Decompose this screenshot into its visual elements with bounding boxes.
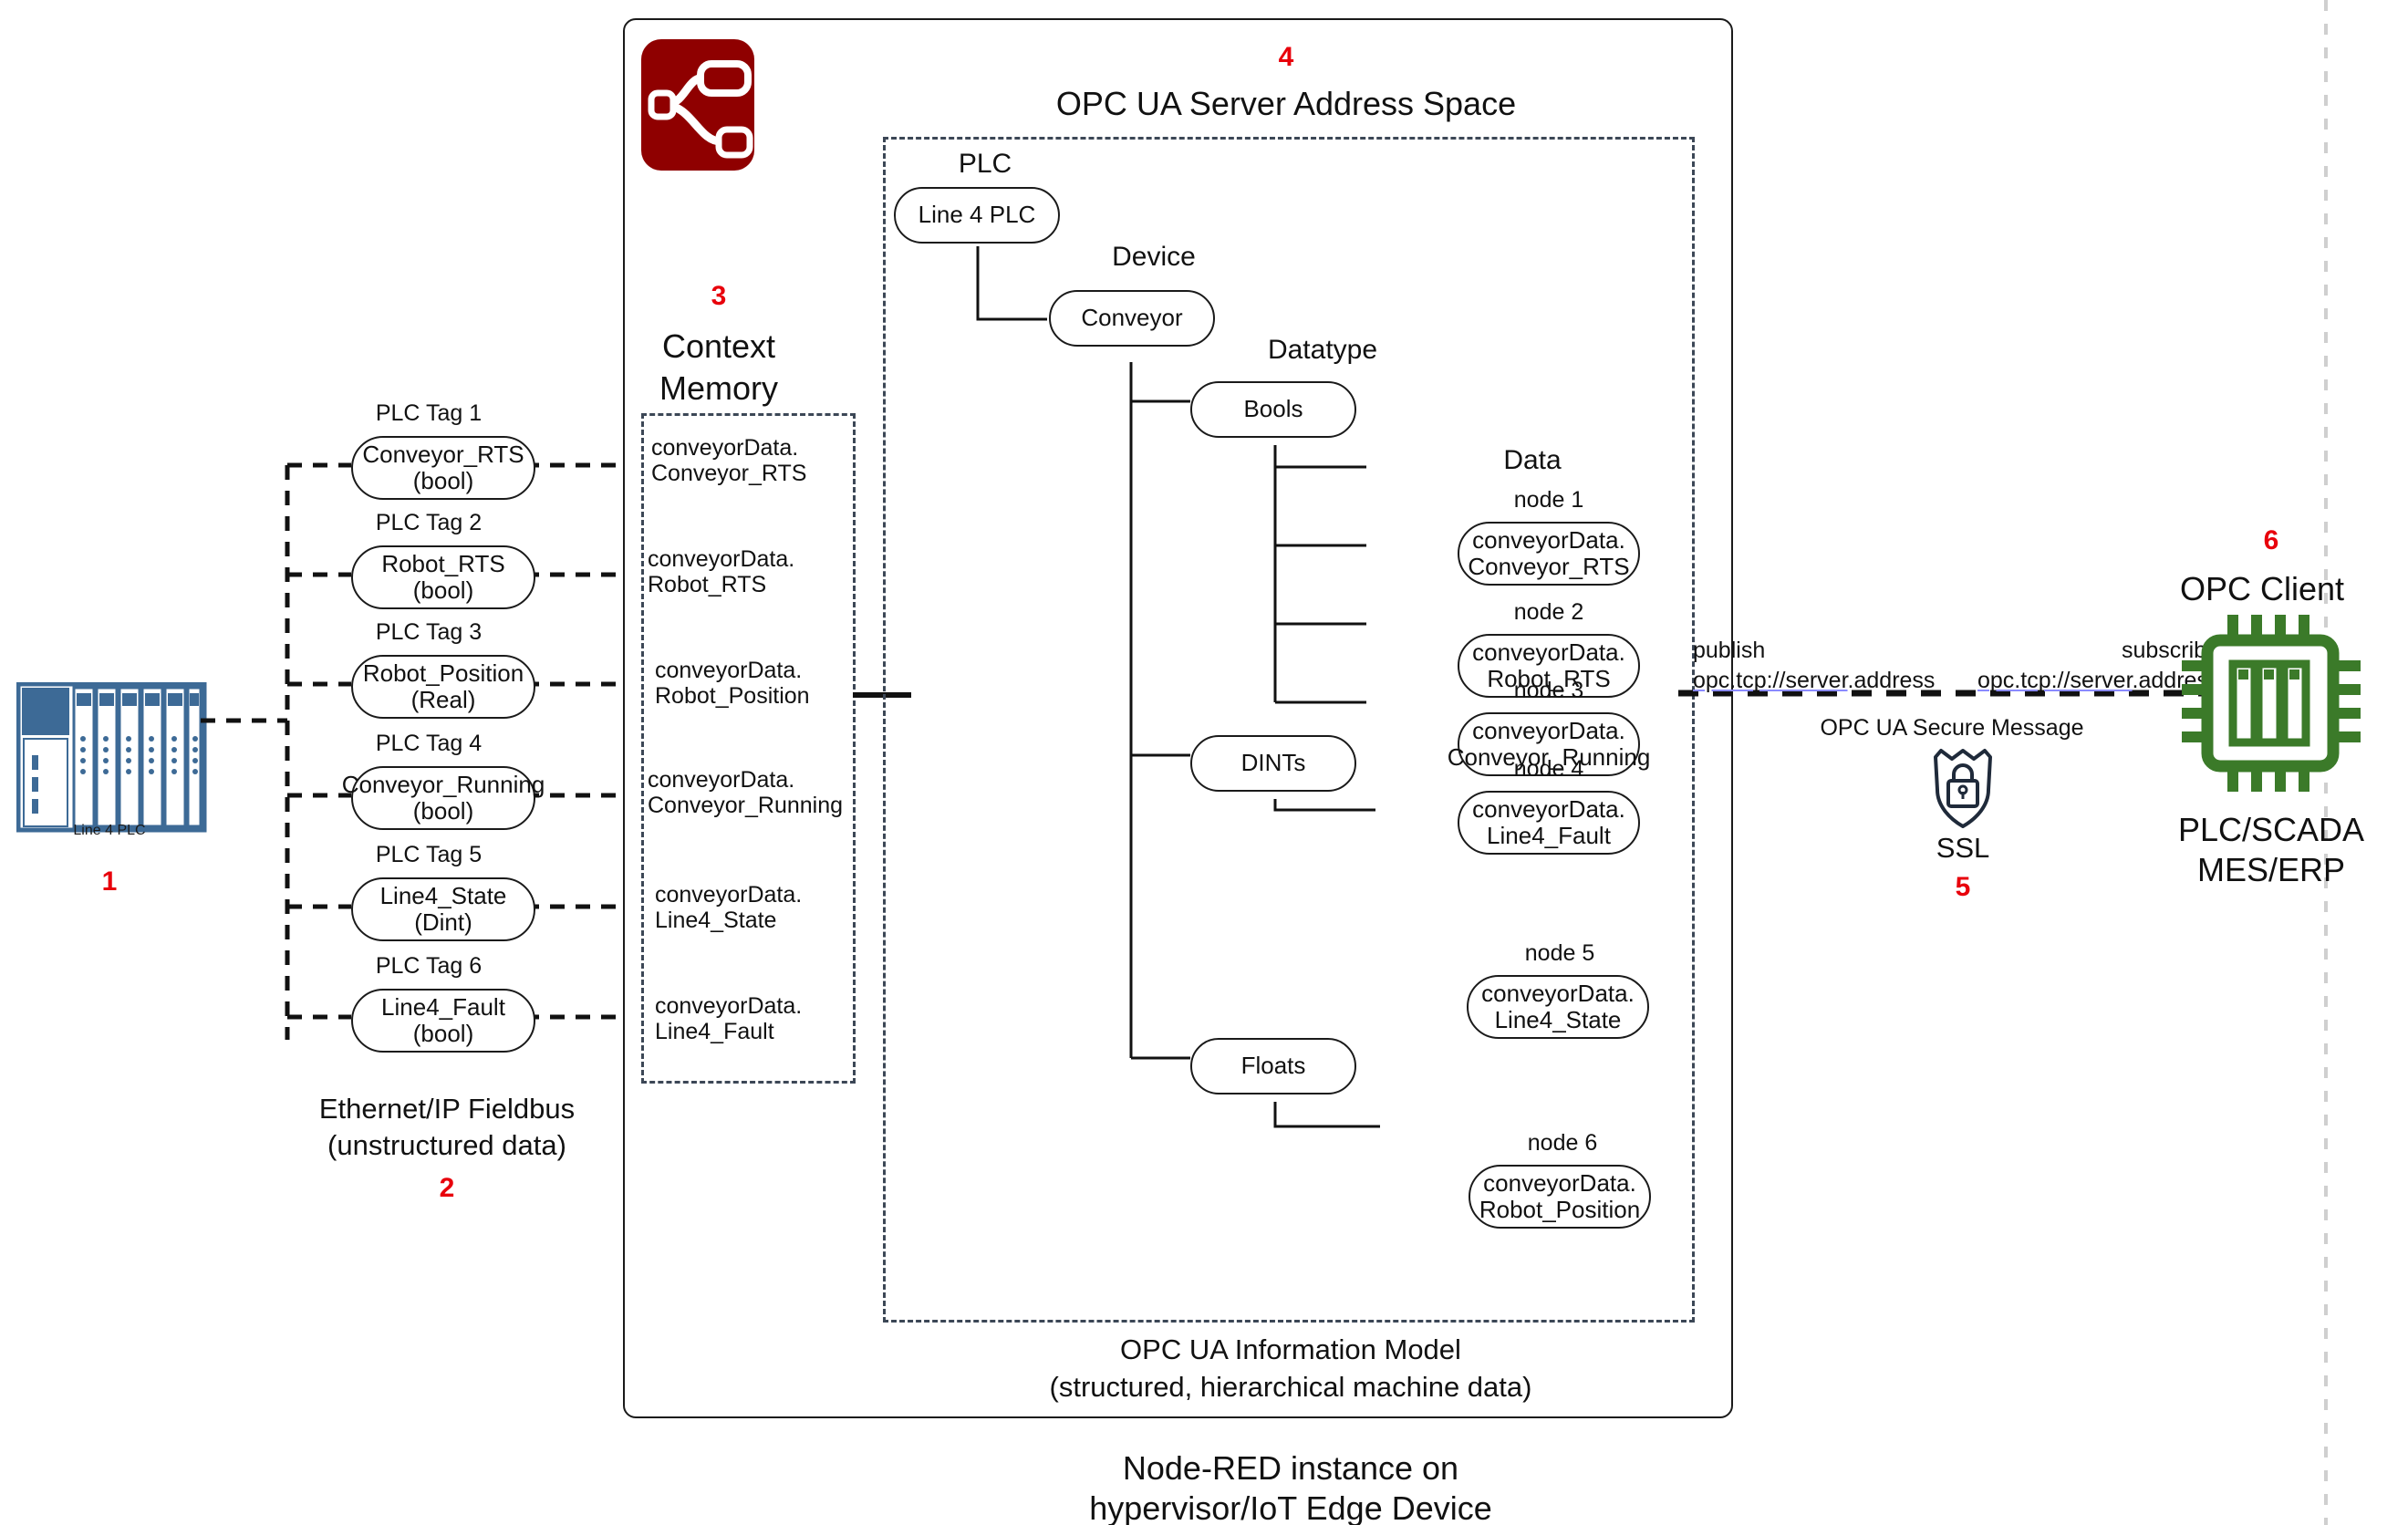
data-node-4-line2: Line4_Fault [1472,823,1625,849]
fieldbus-caption-line1: Ethernet/IP Fieldbus [283,1093,611,1126]
address-space-title: OPC UA Server Address Space [876,84,1697,123]
context-entry-4: conveyorData. Conveyor_Running [648,768,871,818]
publish-url-tail: .address [1848,668,1936,693]
data-node-5-line1: conveyorData. [1481,980,1635,1007]
context-entry-6-line2: Line4_Fault [655,1020,869,1045]
column-header-datatype: Datatype [1222,335,1423,365]
data-node-1-line2: Conveyor_RTS [1468,554,1629,580]
information-model-caption-line2: (structured, hierarchical machine data) [912,1371,1669,1405]
data-node-1-line1: conveyorData. [1468,527,1629,554]
plc-tag-5-pill[interactable]: Line4_State (Dint) [351,877,535,941]
shield-lock-icon [1926,746,1999,830]
context-entry-4-line2: Conveyor_Running [648,794,871,819]
context-memory-title-line2: Memory [623,368,815,408]
data-node-5-line2: Line4_State [1481,1007,1635,1033]
plc-tag-3-name: Robot_Position [363,660,524,687]
context-entry-3-line2: Robot_Position [655,684,869,710]
data-node-4-header: node 4 [1453,757,1645,783]
callout-number-6: 6 [2162,527,2381,555]
callout-number-5: 5 [1881,874,2045,901]
tree-node-device-label: Conveyor [1081,305,1182,331]
plc-device-label: Line 4 PLC [0,823,219,839]
context-memory-box [641,413,856,1084]
secure-message-label: OPC UA Secure Message [1770,716,2134,742]
plc-tag-6-name: Line4_Fault [381,994,505,1021]
opc-client-caption-line1: PLC/SCADA [2134,810,2408,849]
context-entry-6-line1: conveyorData. [655,994,869,1020]
tree-node-datatype-bools[interactable]: Bools [1190,381,1356,438]
data-node-3-line1: conveyorData. [1448,718,1651,744]
context-entry-2-line1: conveyorData. [648,547,862,573]
context-entry-6: conveyorData. Line4_Fault [655,994,869,1044]
plc-tag-2-type: (bool) [381,577,504,604]
node-red-caption-line1: Node-RED instance on [912,1448,1669,1488]
data-node-1-header: node 1 [1453,488,1645,514]
context-entry-1-line1: conveyorData. [651,436,861,462]
plc-tag-5-type: (Dint) [380,909,507,936]
fieldbus-caption-line2: (unstructured data) [283,1129,611,1163]
tree-node-datatype-floats[interactable]: Floats [1190,1038,1356,1094]
plc-tag-1-header: PLC Tag 1 [324,401,534,427]
plc-tag-4-name: Conveyor_Running [342,772,545,798]
plc-tag-6-header: PLC Tag 6 [324,954,534,980]
plc-tag-5-name: Line4_State [380,883,507,909]
plc-tag-3-header: PLC Tag 3 [324,620,534,646]
plc-tag-2-pill[interactable]: Robot_RTS (bool) [351,545,535,609]
data-node-4[interactable]: conveyorData. Line4_Fault [1458,791,1640,855]
plc-tag-4-type: (bool) [342,798,545,825]
context-entry-2-line2: Robot_RTS [648,573,862,598]
node-red-caption-line2: hypervisor/IoT Edge Device [912,1489,1669,1525]
plc-tag-6-pill[interactable]: Line4_Fault (bool) [351,989,535,1053]
data-node-3-header: node 3 [1453,679,1645,704]
data-node-6-line1: conveyorData. [1479,1170,1640,1197]
plc-tag-1-type: (bool) [362,468,524,494]
context-entry-3: conveyorData. Robot_Position [655,659,869,709]
publish-url-link: opc.tcp://server [1693,668,1848,693]
plc-tag-4-pill[interactable]: Conveyor_Running (bool) [351,766,535,830]
context-entry-5-line2: Line4_State [655,908,869,934]
tree-node-plc-label: Line 4 PLC [919,202,1036,228]
callout-number-2: 2 [283,1175,611,1202]
data-node-6-header: node 6 [1467,1131,1658,1157]
data-node-1[interactable]: conveyorData. Conveyor_RTS [1458,522,1640,586]
callout-number-3: 3 [623,283,815,310]
context-entry-1-line2: Conveyor_RTS [651,462,861,487]
tree-node-plc[interactable]: Line 4 PLC [894,187,1060,244]
information-model-caption-line1: OPC UA Information Model [912,1333,1669,1367]
plc-tag-1-pill[interactable]: Conveyor_RTS (bool) [351,436,535,500]
tree-node-bools-label: Bools [1243,396,1303,422]
tree-node-device-conveyor[interactable]: Conveyor [1049,290,1215,347]
data-node-2-header: node 2 [1453,600,1645,626]
plc-tag-3-type: (Real) [363,687,524,713]
cpu-chip-icon [2180,613,2362,795]
context-entry-3-line1: conveyorData. [655,659,869,684]
plc-tag-1-name: Conveyor_RTS [362,441,524,468]
callout-number-4: 4 [876,44,1697,71]
tree-node-datatype-dints[interactable]: DINTs [1190,735,1356,792]
column-header-device: Device [1072,242,1236,272]
publish-label: publish [1693,638,1765,664]
data-node-5-header: node 5 [1464,941,1655,967]
diagram-canvas: Line 4 PLC 1 PLC Tag 1 Convey [0,0,2408,1525]
context-entry-2: conveyorData. Robot_RTS [648,547,862,597]
plc-tag-4-header: PLC Tag 4 [324,731,534,757]
plc-tag-6-type: (bool) [381,1021,505,1047]
tree-node-dints-label: DINTs [1241,750,1306,776]
opc-client-title: OPC Client [2125,569,2399,608]
data-node-5[interactable]: conveyorData. Line4_State [1467,975,1649,1039]
publish-url[interactable]: opc.tcp://server.address [1693,669,1935,694]
context-entry-4-line1: conveyorData. [648,768,871,794]
opc-client-caption-line2: MES/ERP [2134,850,2408,889]
subscribe-url-link: opc.tcp://server [1977,668,2133,693]
context-memory-title-line1: Context [623,327,815,366]
plc-rack-icon [16,682,208,833]
data-node-6-line2: Robot_Position [1479,1197,1640,1223]
callout-number-1: 1 [0,868,219,896]
plc-tag-2-name: Robot_RTS [381,551,504,577]
column-header-plc: PLC [912,149,1058,179]
context-entry-5: conveyorData. Line4_State [655,883,869,933]
context-entry-1: conveyorData. Conveyor_RTS [651,436,861,486]
ssl-label: SSL [1881,832,2045,866]
data-node-2-line1: conveyorData. [1472,639,1625,666]
node-red-logo [638,36,757,173]
plc-tag-5-header: PLC Tag 5 [324,843,534,868]
tree-node-floats-label: Floats [1241,1053,1306,1079]
context-entry-5-line1: conveyorData. [655,883,869,908]
data-node-4-line1: conveyorData. [1472,796,1625,823]
data-node-6[interactable]: conveyorData. Robot_Position [1469,1165,1651,1229]
plc-tag-3-pill[interactable]: Robot_Position (Real) [351,655,535,719]
column-header-data: Data [1432,445,1633,475]
plc-tag-2-header: PLC Tag 2 [324,511,534,536]
